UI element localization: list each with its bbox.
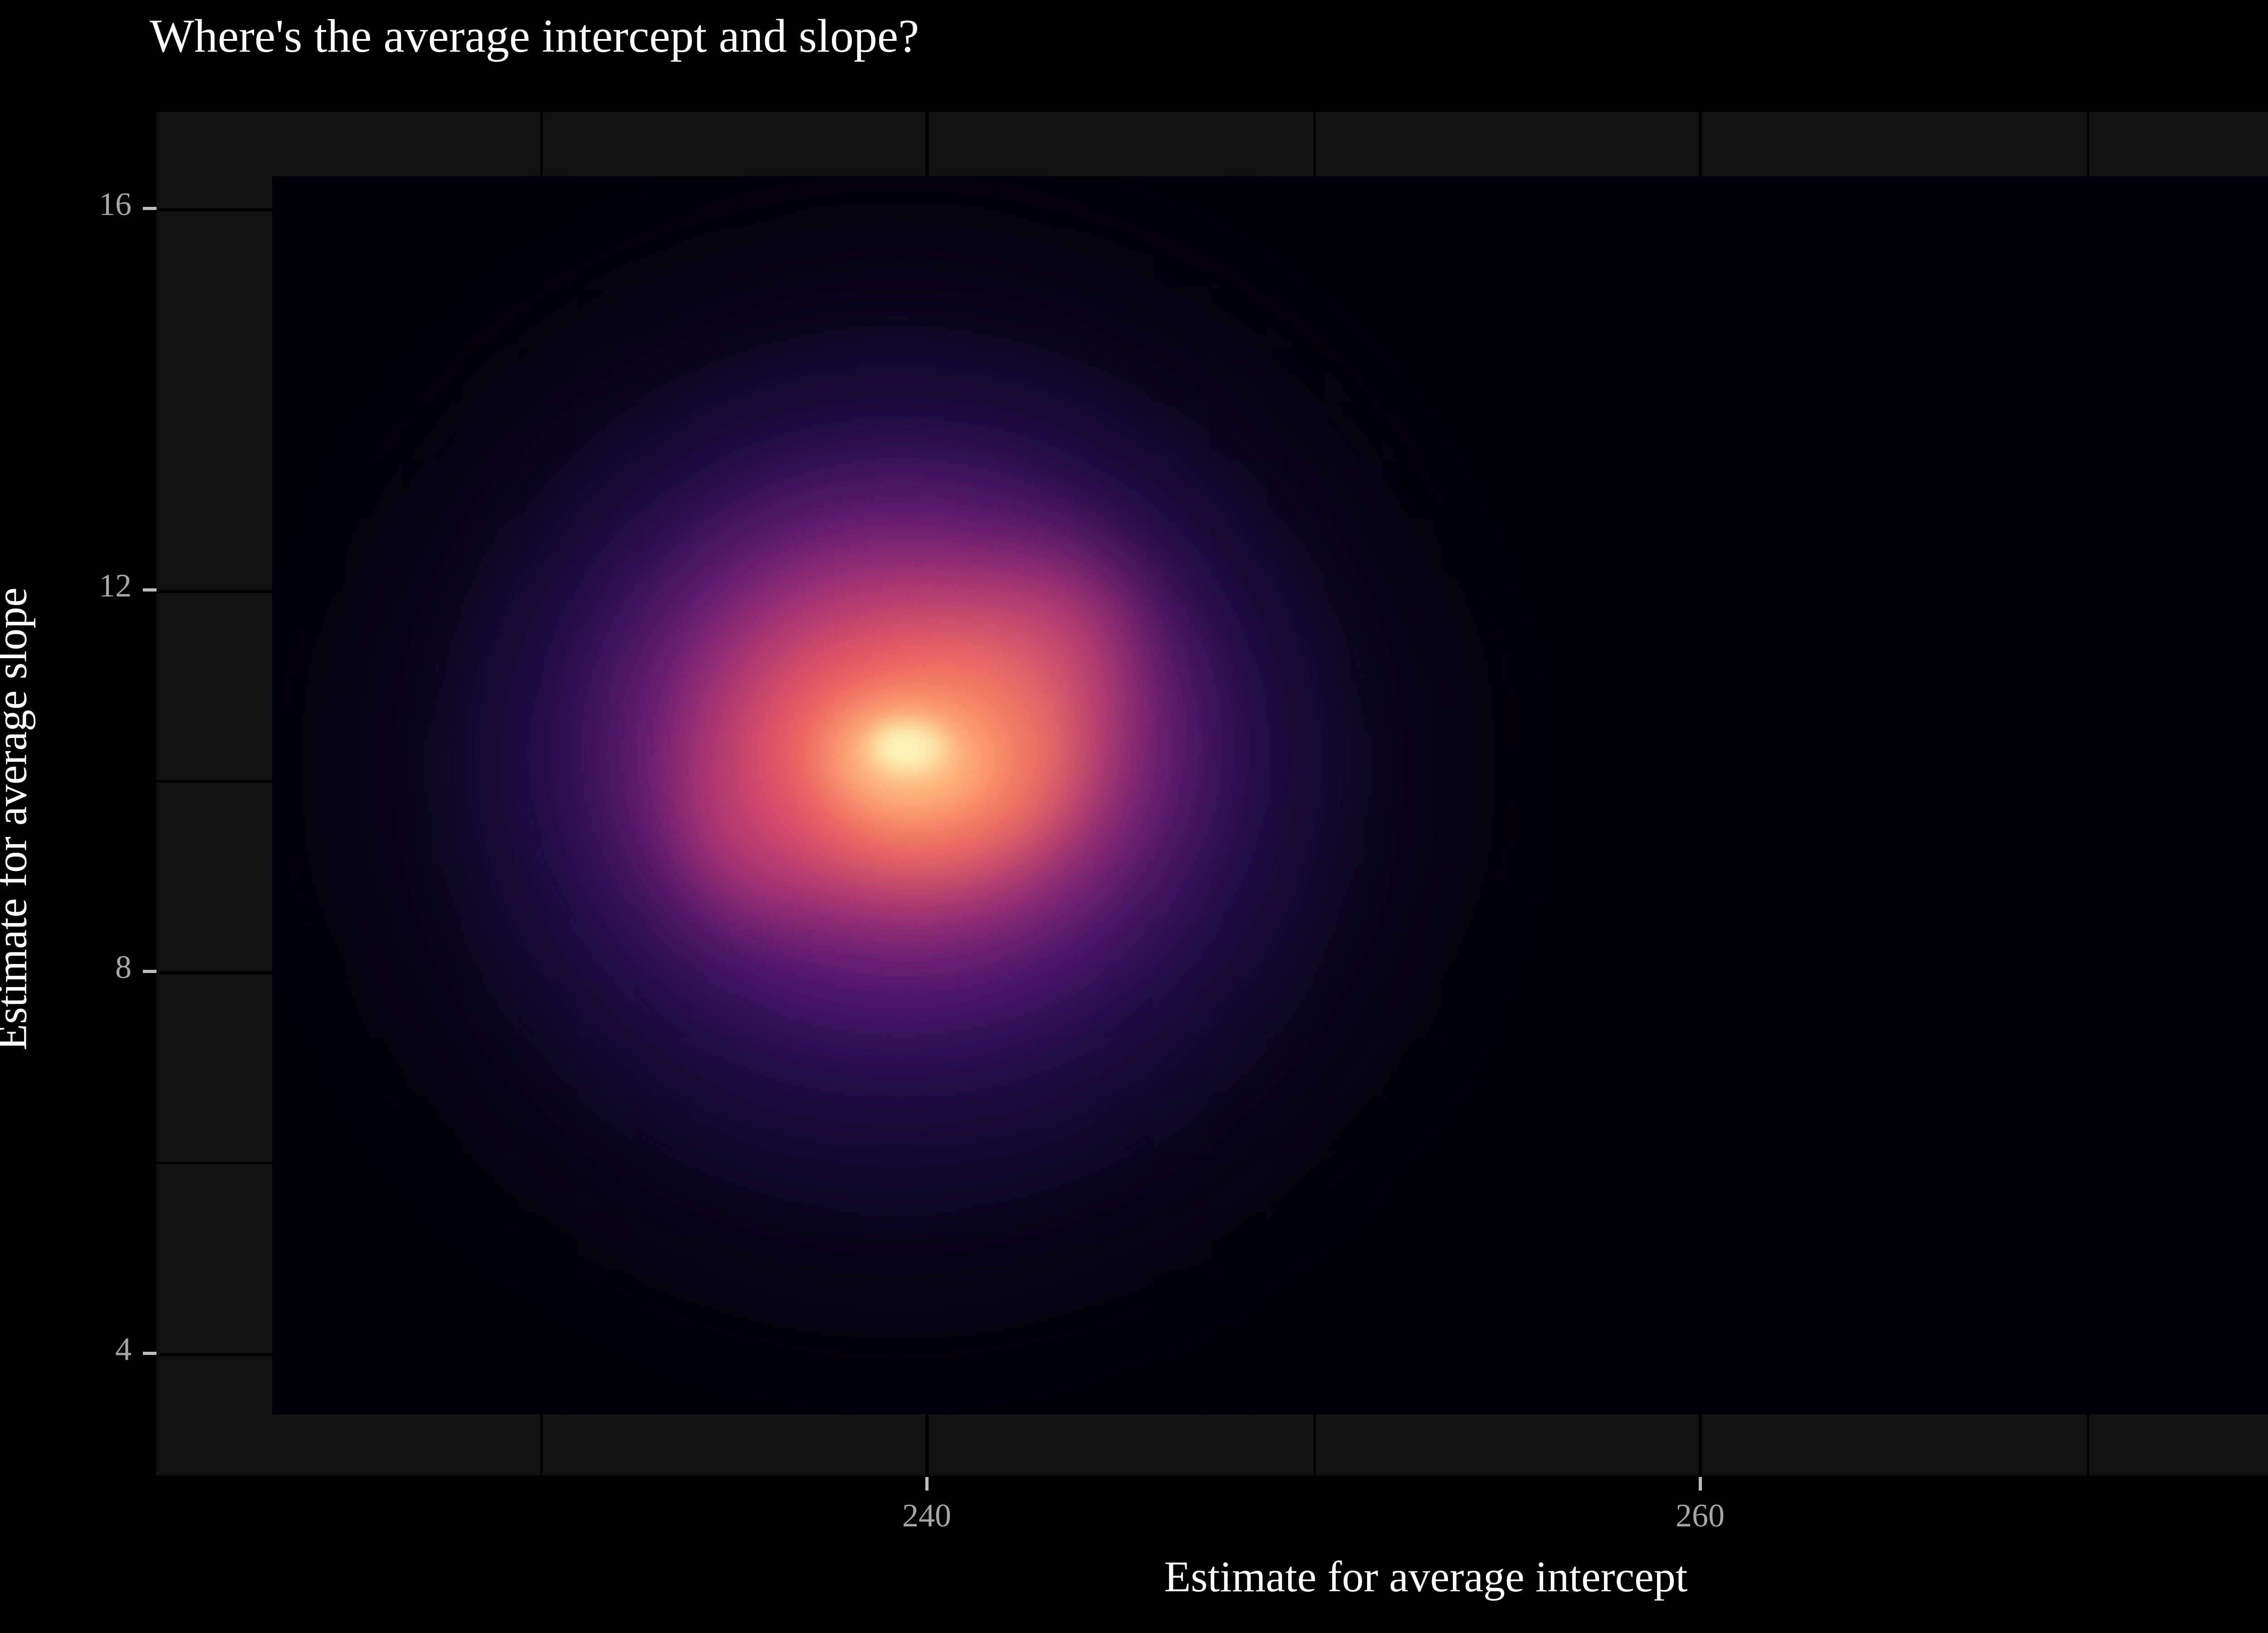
density-contour-0.28 xyxy=(612,490,1200,986)
tick-label-x-240: 240 xyxy=(836,1497,1017,1535)
density-ridge-2 xyxy=(853,570,1129,830)
tick-label-y-8: 8 xyxy=(45,949,132,986)
chart-root: Where's the average intercept and slope?… xyxy=(0,0,2268,1633)
plot-panel xyxy=(156,112,2268,1476)
tick-mark-y-4 xyxy=(143,1352,156,1355)
tick-mark-y-8 xyxy=(143,970,156,973)
tick-mark-y-12 xyxy=(143,588,156,592)
tick-label-y-4: 4 xyxy=(45,1330,132,1368)
density-contour-0.45 xyxy=(678,567,1142,929)
tick-label-y-12: 12 xyxy=(45,567,132,605)
density-contour-0.65 xyxy=(759,648,1084,886)
density-contour-0.16 xyxy=(543,433,1254,1062)
tick-mark-y-16 xyxy=(143,207,156,210)
density-contour-0.01 xyxy=(272,176,1556,1414)
y-axis-title: Estimate for average slope xyxy=(0,137,37,1501)
x-axis-title: Estimate for average intercept xyxy=(156,1551,2268,1602)
tick-mark-x-240 xyxy=(925,1477,929,1491)
page-title: Where's the average intercept and slope? xyxy=(150,13,919,60)
density-contour-1 xyxy=(860,714,960,781)
density-contour-0.85 xyxy=(810,686,1011,829)
tick-mark-x-260 xyxy=(1699,1477,1702,1491)
density-ridge-1 xyxy=(609,685,894,981)
density-contour-0.03 xyxy=(376,271,1420,1262)
density-heatmap-raster xyxy=(272,176,2268,1414)
tick-label-y-16: 16 xyxy=(45,186,132,223)
tick-label-x-260: 260 xyxy=(1609,1497,1791,1535)
density-contour-0.08 xyxy=(473,376,1324,1138)
density-ridge-0 xyxy=(919,485,1203,781)
